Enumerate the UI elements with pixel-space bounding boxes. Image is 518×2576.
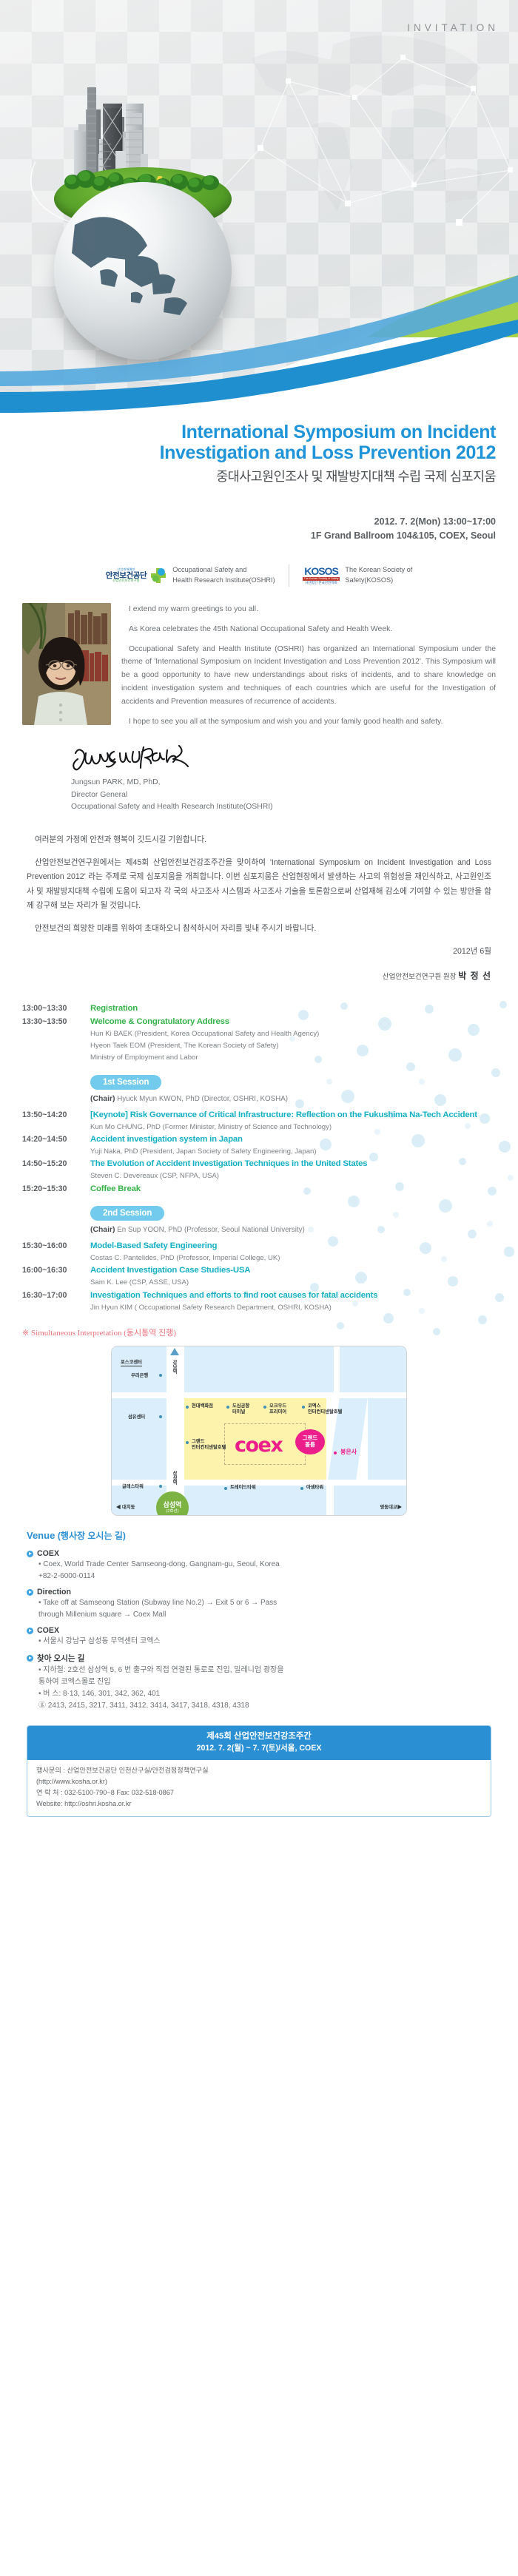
program-body: Accident investigation system in Japan Y…: [90, 1134, 496, 1157]
map-label-yeongdong: 영동대교▶: [380, 1503, 402, 1510]
program-row: 16:30~17:00 Investigation Techniques and…: [22, 1290, 496, 1313]
map-label-oakwood-l1: 오크우드: [269, 1403, 286, 1409]
venue-item: Direction • Take off at Samseong Station…: [27, 1588, 491, 1621]
map-label-daechi: ◀ 대치동: [116, 1503, 135, 1510]
greeting-section: I extend my warm greetings to you all. A…: [0, 587, 518, 735]
chair-label: (Chair): [90, 1226, 115, 1234]
program-schedule: 13:00~13:30 Registration 13:30~13:50 Wel…: [0, 1003, 518, 1313]
map-dot: [186, 1406, 189, 1409]
venue-item-text: • 지하철: 2호선 삼성역 5, 6 번 출구와 직접 연결된 통로로 진입,…: [27, 1665, 491, 1712]
map-label-grand-l2: 인터컨티넨탈호텔: [192, 1445, 226, 1450]
signer-name: Jungsun PARK, MD, PhD,: [71, 777, 496, 789]
program-title: Registration: [90, 1003, 496, 1014]
signature-area: Jungsun PARK, MD, PhD, Director General …: [0, 735, 518, 814]
program-row: 14:50~15:20 The Evolution of Accident In…: [22, 1159, 496, 1181]
program-row: 15:20~15:30 Coffee Break: [22, 1184, 496, 1195]
venue-item-line: • Take off at Samseong Station (Subway l…: [38, 1597, 491, 1609]
program-speaker: Kun Mo CHUNG, PhD (Former Minister, Mini…: [90, 1122, 496, 1133]
korean-date: 2012년 6월: [27, 945, 491, 959]
map-label-intercontinental-l2: 인터컨티넨탈호텔: [308, 1409, 342, 1415]
kosos-line1: The Korean Society of: [345, 565, 412, 575]
footer-contact: 행사문의 : 산업안전보건공단 인천산구실/안전검정정책연구실 (http://…: [27, 1760, 491, 1816]
venue-item: COEX • 서울시 강남구 삼성동 무역센터 코엑스: [27, 1626, 491, 1648]
venue-item-text: • 서울시 강남구 삼성동 무역센터 코엑스: [27, 1636, 491, 1648]
program-body: Coffee Break: [90, 1184, 496, 1195]
signer-role: Director General: [71, 789, 496, 802]
venue-item-text: • Coex, World Trade Center Samseong-dong…: [27, 1559, 491, 1582]
session-2-chair: (Chair) En Sup YOON, PhD (Professor, Seo…: [90, 1226, 496, 1234]
korean-signer: 산업안전보건연구원 원장 박 정 선: [27, 968, 491, 985]
director-portrait-photo: [22, 603, 111, 725]
venue-item-line: • 버 스: 8·13, 146, 301, 342, 362, 401: [38, 1688, 491, 1700]
kosos-acronym: KOSOS: [304, 566, 338, 576]
map-arrow-up-icon: [170, 1348, 179, 1355]
logo-divider: [289, 564, 289, 587]
chair-name: Hyuck Myun KWON, PhD (Director, OSHRI, K…: [115, 1095, 288, 1103]
globe-illustration: [28, 58, 272, 309]
play-bullet-icon: [27, 1655, 33, 1662]
map-dot: [159, 1374, 162, 1377]
venue-item-title-row: COEX: [27, 1549, 491, 1558]
kosos-korean: 사단법인 한국안전학회: [305, 581, 337, 585]
map-label-oakwood: 오크우드 프리미어: [269, 1403, 286, 1415]
logo-kosos: KOSOS The Korean Society of Safety 사단법인 …: [303, 565, 413, 585]
footer-week-dates: 2012. 7. 2(월) ~ 7. 7(토)/서울, COEX: [27, 1743, 491, 1755]
session-2-pill: 2nd Session: [90, 1206, 164, 1221]
footer-header: 제45회 산업안전보건강조주간 2012. 7. 2(월) ~ 7. 7(토)/…: [27, 1726, 491, 1760]
map-label-intercontinental: 코엑스 인터컨티넨탈호텔: [308, 1403, 342, 1415]
symposium-title-en-line1: International Symposium on Incident: [22, 422, 496, 442]
program-time: 16:30~17:00: [22, 1290, 90, 1313]
program-row: 16:00~16:30 Accident Investigation Case …: [22, 1265, 496, 1288]
program-speaker: Yuji Naka, PhD (President, Japan Society…: [90, 1146, 496, 1157]
grand-ballroom-badge: 그랜드 볼룸: [295, 1429, 325, 1454]
venue-item-title-row: COEX: [27, 1626, 491, 1635]
map-label-posco: 포스코센터: [121, 1360, 142, 1366]
program-time: 15:30~16:00: [22, 1241, 90, 1264]
map-label-trade-tower: 트레이드타워: [230, 1485, 256, 1491]
venue-item-title: COEX: [37, 1626, 59, 1635]
map-block: [112, 1346, 166, 1392]
program-time: 14:20~14:50: [22, 1134, 90, 1157]
map-dot: [186, 1441, 189, 1444]
map-label-city-airport-l2: 터미널: [232, 1409, 245, 1415]
chair-name: En Sup YOON, PhD (Professor, Seoul Natio…: [115, 1226, 304, 1234]
venue-item-line: ⓖ 2413, 2415, 3217, 3411, 3412, 3414, 34…: [38, 1700, 491, 1712]
footer-contact-line-4: Website: http://oshri.kosha.or.kr: [36, 1798, 482, 1810]
signer-org: Occupational Safety and Health Research …: [71, 801, 496, 814]
program-row: 13:50~14:20 [Keynote] Risk Governance of…: [22, 1110, 496, 1133]
footer-contact-line-3: 연 락 처 : 032-5100-790~8 Fax: 032-518-0867: [36, 1787, 482, 1798]
chair-label: (Chair): [90, 1095, 115, 1103]
oshri-line2: Health Research Institute(OSHRI): [172, 576, 275, 585]
map-label-city-airport: 도심공항 터미널: [232, 1403, 249, 1415]
venue-item-title: COEX: [37, 1549, 59, 1558]
greeting-paragraph-3: Occupational Safety and Health Institute…: [121, 643, 496, 709]
symposium-title-en-line2: Investigation and Loss Prevention 2012: [22, 442, 496, 463]
map-dot: [263, 1406, 266, 1409]
symposium-title-ko: 중대사고원인조사 및 재발방지대책 수립 국제 심포지움: [22, 467, 496, 485]
program-speaker: Hun Ki BAEK (President, Korea Occupation…: [90, 1028, 496, 1039]
venue-item-line: 통하여 코엑스몰로 진입: [38, 1676, 491, 1688]
program-speaker: Hyeon Taek EOM (President, The Korean So…: [90, 1040, 496, 1051]
venue-item-line: through Millenium square → Coex Mall: [38, 1609, 491, 1621]
program-body: [Keynote] Risk Governance of Critical In…: [90, 1110, 496, 1133]
map-dot: [226, 1406, 229, 1409]
event-place: 1F Grand Ballroom 104&105, COEX, Seoul: [22, 529, 496, 543]
map-block: [334, 1486, 407, 1516]
korean-paragraph-2: 산업안전보건연구원에서는 제45회 산업안전보건강조주간을 맞이하여 'Inte…: [27, 856, 491, 913]
program-title: Accident Investigation Case Studies-USA: [90, 1265, 496, 1276]
samseong-station-name: 삼성역: [164, 1502, 182, 1509]
map-label-oakwood-l2: 프리미어: [269, 1409, 286, 1415]
map-block: [112, 1398, 166, 1480]
event-datetime: 2012. 7. 2(Mon) 13:00~17:00: [22, 515, 496, 529]
venue-item-line: • 서울시 강남구 삼성동 무역센터 코엑스: [38, 1636, 491, 1648]
map-label-woori: 우리은행: [131, 1373, 148, 1379]
session-1-block: 1st Session (Chair) Hyuck Myun KWON, PhD…: [22, 1065, 496, 1103]
map-label-samseong-station-vertical: 삼성역: [171, 1471, 178, 1485]
invitation-label: INVITATION: [407, 22, 499, 33]
footer-info-box: 제45회 산업안전보건강조주간 2012. 7. 2(월) ~ 7. 7(토)/…: [27, 1725, 491, 1817]
handwritten-signature: [71, 743, 212, 775]
hero-banner: INVITATION: [0, 0, 518, 414]
map-block: [184, 1346, 334, 1392]
coex-location-map: 강남역 삼성역 포스코센터 우리은행 섬유센터 글래스타워 현대백화점 도심공항…: [111, 1346, 407, 1516]
program-speaker: Sam K. Lee (CSP, ASSE, USA): [90, 1277, 496, 1288]
program-title: Welcome & Congratulatory Address: [90, 1016, 496, 1028]
program-speaker: Jin Hyun KIM ( Occupational Safety Resea…: [90, 1302, 496, 1313]
map-label-intercontinental-l1: 코엑스: [308, 1403, 320, 1409]
kosha-korean-wordmark: 산업재해예방 안전보건공단 산업안전보건연구원: [106, 568, 147, 582]
venue-heading-en: Venue: [27, 1530, 58, 1541]
venue-item: 찾아 오시는 길 • 지하철: 2호선 삼성역 5, 6 번 출구와 직접 연결…: [27, 1653, 491, 1712]
program-time: 13:30~13:50: [22, 1016, 90, 1064]
map-label-seomyu: 섬유센터: [128, 1415, 145, 1420]
program-body: Welcome & Congratulatory Address Hun Ki …: [90, 1016, 496, 1064]
venue-item: COEX • Coex, World Trade Center Samseong…: [27, 1549, 491, 1582]
oshri-line1: Occupational Safety and: [172, 565, 275, 575]
map-section: 강남역 삼성역 포스코센터 우리은행 섬유센터 글래스타워 현대백화점 도심공항…: [0, 1338, 518, 1516]
map-label-bongeunsa: 봉은사: [340, 1448, 357, 1456]
play-bullet-icon: [27, 1551, 33, 1557]
program-time: 13:50~14:20: [22, 1110, 90, 1133]
program-title: The Evolution of Accident Investigation …: [90, 1159, 496, 1170]
program-body: Investigation Techniques and efforts to …: [90, 1290, 496, 1313]
map-dot: [159, 1485, 162, 1488]
map-dot: [224, 1487, 227, 1490]
session-1-chair: (Chair) Hyuck Myun KWON, PhD (Director, …: [90, 1095, 496, 1103]
kosos-logo-text: The Korean Society of Safety(KOSOS): [345, 565, 412, 585]
program-title: Coffee Break: [90, 1184, 496, 1195]
kosha-subname: 산업안전보건연구원: [112, 579, 139, 582]
map-dot-bongeunsa: [334, 1451, 337, 1454]
title-block: International Symposium on Incident Inve…: [0, 414, 518, 544]
venue-item-line: • Coex, World Trade Center Samseong-dong…: [38, 1559, 491, 1571]
footer-week-title: 제45회 산업안전보건강조주간: [27, 1730, 491, 1743]
ballroom-l2: 볼룸: [305, 1442, 315, 1449]
venue-item-title-row: 찾아 오시는 길: [27, 1653, 491, 1664]
logo-oshri: 산업재해예방 안전보건공단 산업안전보건연구원 Occupational Saf…: [106, 565, 275, 585]
map-dot: [300, 1487, 303, 1490]
venue-item-title: Direction: [37, 1588, 71, 1596]
program-body: Registration: [90, 1003, 496, 1014]
venue-item-line: • 지하철: 2호선 삼성역 5, 6 번 출구와 직접 연결된 통로로 진입,…: [38, 1665, 491, 1676]
symposium-title-en: International Symposium on Incident Inve…: [22, 422, 496, 463]
program-body: Model-Based Safety Engineering Costas C.…: [90, 1241, 496, 1264]
venue-heading: Venue (행사장 오시는 길): [27, 1529, 491, 1542]
signature-lines: Jungsun PARK, MD, PhD, Director General …: [71, 777, 496, 814]
venue-item-title: 찾아 오시는 길: [37, 1653, 84, 1664]
coex-logo: coex: [235, 1434, 282, 1457]
korean-signer-name: 박 정 선: [458, 971, 491, 981]
oshri-logo-text: Occupational Safety and Health Research …: [172, 565, 275, 585]
program-title: [Keynote] Risk Governance of Critical In…: [90, 1110, 496, 1121]
kosos-line2: Safety(KOSOS): [345, 576, 412, 585]
program-time: 13:00~13:30: [22, 1003, 90, 1014]
portrait-image: [22, 603, 111, 725]
map-label-hyundai: 현대백화점: [192, 1403, 213, 1409]
program-speaker: Ministry of Employment and Labor: [90, 1052, 496, 1063]
venue-item-line: +82-2-6000-0114: [38, 1571, 491, 1582]
map-block: [368, 1398, 407, 1480]
greeting-text: I extend my warm greetings to you all. A…: [121, 603, 496, 735]
korean-signer-prefix: 산업안전보건연구원 원장: [383, 973, 458, 981]
map-label-gangnam-station: 강남역: [171, 1360, 178, 1374]
wave-decoration: [0, 275, 518, 414]
map-dot: [159, 1415, 162, 1418]
program-time: 15:20~15:30: [22, 1184, 90, 1195]
map-block: [340, 1346, 407, 1392]
venue-item-title-row: Direction: [27, 1588, 491, 1596]
program-title: Accident investigation system in Japan: [90, 1134, 496, 1145]
kosos-logo-mark: KOSOS The Korean Society of Safety 사단법인 …: [303, 566, 340, 584]
play-bullet-icon: [27, 1628, 33, 1634]
kosha-logo-mark: 산업재해예방 안전보건공단 산업안전보건연구원: [106, 567, 168, 584]
session-1-pill: 1st Session: [90, 1075, 161, 1090]
program-row: 15:30~16:00 Model-Based Safety Engineeri…: [22, 1241, 496, 1264]
program-row: 13:30~13:50 Welcome & Congratulatory Add…: [22, 1016, 496, 1064]
program-body: The Evolution of Accident Investigation …: [90, 1159, 496, 1181]
samseong-station-line: (2호선): [166, 1509, 178, 1514]
program-time: 14:50~15:20: [22, 1159, 90, 1181]
program-title: Investigation Techniques and efforts to …: [90, 1290, 496, 1301]
map-label-city-airport-l1: 도심공항: [232, 1403, 249, 1409]
map-label-glass-tower: 글래스타워: [122, 1484, 144, 1490]
program-speaker: Steven C. Devereaux (CSP, NFPA, USA): [90, 1170, 496, 1181]
session-2-block: 2nd Session (Chair) En Sup YOON, PhD (Pr…: [22, 1196, 496, 1234]
invitation-poster: INVITATION: [0, 0, 518, 2576]
footer-contact-line-2: (http://www.kosha.or.kr): [36, 1776, 482, 1787]
greeting-paragraph-2: As Korea celebrates the 45th National Oc…: [121, 623, 496, 636]
map-label-asem-tower: 아셈타워: [306, 1485, 323, 1491]
program-speaker: Costas C. Pantelides, PhD (Professor, Im…: [90, 1252, 496, 1264]
event-datetime-place: 2012. 7. 2(Mon) 13:00~17:00 1F Grand Bal…: [22, 515, 496, 544]
footer-contact-line-1: 행사문의 : 산업안전보건공단 인천산구실/안전검정정책연구실: [36, 1765, 482, 1776]
program-title: Model-Based Safety Engineering: [90, 1241, 496, 1252]
simultaneous-interpretation-note: ※ Simultaneous Interpretation (동시통역 진행): [0, 1315, 518, 1338]
map-dot: [302, 1406, 305, 1409]
korean-paragraph-3: 안전보건의 희망찬 미래를 위하여 초대하오니 참석하시어 자리를 빛내 주시기…: [27, 922, 491, 936]
korean-greeting-section: 여러분의 가정에 안전과 행복이 깃드시길 기원합니다. 산업안전보건연구원에서…: [0, 814, 518, 985]
venue-section: Venue (행사장 오시는 길) COEX • Coex, World Tra…: [0, 1516, 518, 1712]
program-body: Accident Investigation Case Studies-USA …: [90, 1265, 496, 1288]
greeting-paragraph-4: I hope to see you all at the symposium a…: [121, 715, 496, 729]
program-row: 13:00~13:30 Registration: [22, 1003, 496, 1014]
oshri-cross-icon: [149, 567, 167, 584]
play-bullet-icon: [27, 1589, 33, 1596]
program-row: 14:20~14:50 Accident investigation syste…: [22, 1134, 496, 1157]
venue-item-text: • Take off at Samseong Station (Subway l…: [27, 1597, 491, 1621]
venue-heading-kr: (행사장 오시는 길): [58, 1531, 126, 1541]
korean-paragraph-1: 여러분의 가정에 안전과 행복이 깃드시길 기원합니다.: [27, 833, 491, 847]
map-label-grand-l1: 그랜드: [192, 1439, 204, 1444]
greeting-paragraph-1: I extend my warm greetings to you all.: [121, 603, 496, 616]
organizer-logos: 산업재해예방 안전보건공단 산업안전보건연구원 Occupational Saf…: [0, 564, 518, 587]
map-label-grand-intercontinental: 그랜드 인터컨티넨탈호텔: [192, 1439, 226, 1451]
program-time: 16:00~16:30: [22, 1265, 90, 1288]
